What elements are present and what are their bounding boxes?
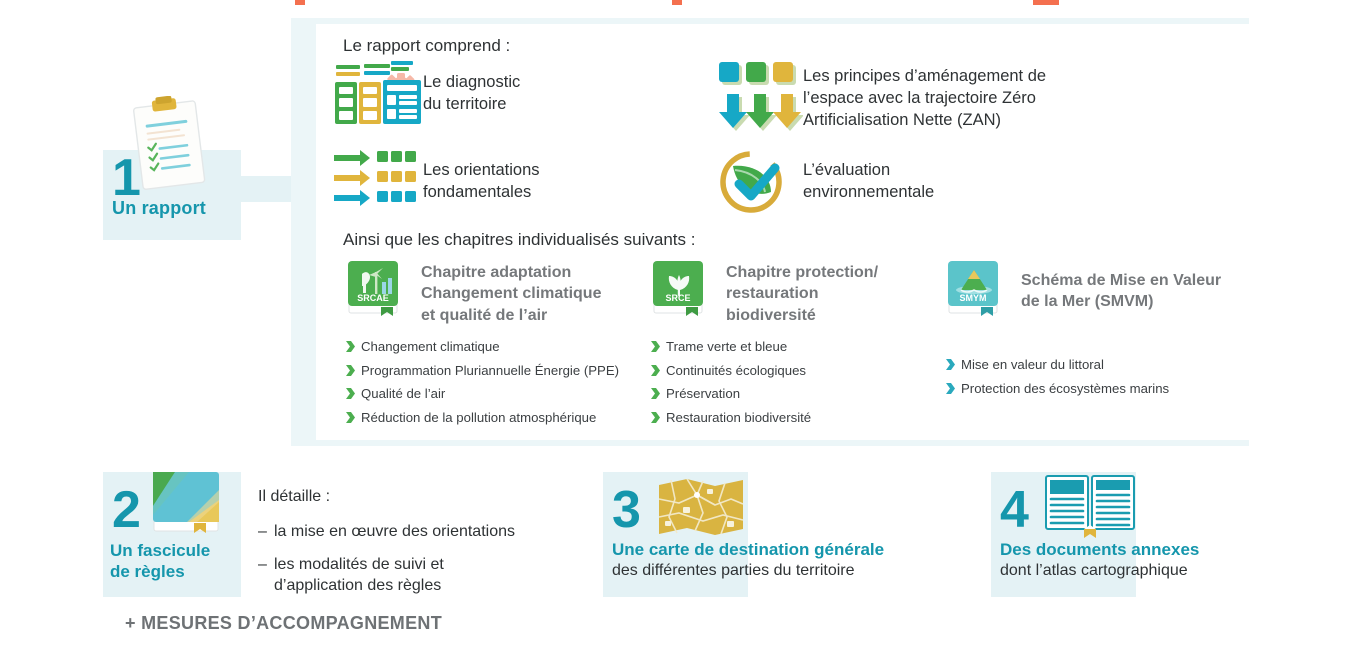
list-item: Préservation <box>650 387 940 400</box>
chapter-srce-title: Chapitre protection/ restauration biodiv… <box>712 258 878 326</box>
step2-label-line2: de règles <box>110 561 240 582</box>
feature-diagnostic-line2: du territoire <box>423 94 520 116</box>
feature-evaluation-line1: L’évaluation <box>803 160 934 182</box>
bullet-label: Mise en valeur du littoral <box>961 358 1104 371</box>
chapter-smvm-title-line2: de la Mer (SMVM) <box>1021 291 1221 312</box>
open-book-icon <box>1043 473 1137 539</box>
feature-diagnostic-text: Le diagnostic du territoire <box>423 60 520 116</box>
step2-item-2-line1: les modalités de suivi et <box>274 555 444 576</box>
chapter-srce-title-line3: biodiversité <box>726 305 878 326</box>
chapter-smvm: SMYM Schéma de Mise en Valeur de la Mer … <box>945 258 1245 405</box>
chevron-right-icon <box>945 358 961 371</box>
feature-evaluation-line2: environnementale <box>803 182 934 204</box>
feature-evaluation: L’évaluation environnementale <box>713 146 1133 216</box>
chapter-srce-title-line2: restauration <box>726 283 878 304</box>
step3-title: Une carte de destination générale <box>612 540 884 560</box>
book-srce-label: SRCE <box>665 293 690 303</box>
step4-number: 4 <box>1000 484 1029 536</box>
feature-zan-text: Les principes d’aménagement de l’espace … <box>803 58 1046 131</box>
down-arrows-icon <box>713 58 803 128</box>
bullet-label: Restauration biodiversité <box>666 411 811 424</box>
step2-item-2: – les modalités de suivi et d’applicatio… <box>258 555 558 597</box>
feature-zan: Les principes d’aménagement de l’espace … <box>713 58 1133 131</box>
bullet-label: Continuités écologiques <box>666 364 806 377</box>
feature-orientations-line1: Les orientations <box>423 160 540 182</box>
bullet-label: Changement climatique <box>361 340 500 353</box>
title-trace-right <box>1033 0 1059 5</box>
chevron-right-icon <box>945 382 961 395</box>
chapter-srcae-title-line1: Chapitre adaptation <box>421 262 601 283</box>
chevron-right-icon <box>650 387 666 400</box>
list-item: Trame verte et bleue <box>650 340 940 353</box>
arrows-blocks-icon <box>333 148 423 218</box>
bullet-label: Préservation <box>666 387 740 400</box>
feature-diagnostic-line1: Le diagnostic <box>423 72 520 94</box>
chapter-srcae: SRCAE Chapitre adaptation Changement cli… <box>345 258 645 435</box>
chapter-smvm-title: Schéma de Mise en Valeur de la Mer (SMVM… <box>1007 258 1221 313</box>
step3-number: 3 <box>612 484 641 536</box>
step2-label: Un fascicule de règles <box>110 540 240 583</box>
chevron-right-icon <box>650 411 666 424</box>
step2-item-2-text: les modalités de suivi et d’application … <box>274 555 444 597</box>
step2-label-line1: Un fascicule <box>110 540 240 561</box>
list-item: Qualité de l’air <box>345 387 645 400</box>
chapter-smvm-bullets: Mise en valeur du littoral Protection de… <box>945 358 1245 395</box>
step2-number: 2 <box>112 484 141 536</box>
step1-number: 1 <box>112 152 141 204</box>
step4-title: Des documents annexes <box>1000 540 1199 560</box>
panel-heading-comprend: Le rapport comprend : <box>343 36 510 56</box>
step1-label: Un rapport <box>112 198 206 219</box>
step2-body: Il détaille : – la mise en œuvre des ori… <box>258 488 558 608</box>
book-srcae-icon: SRCAE <box>345 258 407 320</box>
step2-item-2-line2: d’application des règles <box>274 576 444 597</box>
feature-evaluation-text: L’évaluation environnementale <box>803 146 934 204</box>
feature-orientations-text: Les orientations fondamentales <box>423 148 540 204</box>
chapter-srce: SRCE Chapitre protection/ restauration b… <box>650 258 940 435</box>
feature-zan-line3: Artificialisation Nette (ZAN) <box>803 110 1046 132</box>
chapter-srcae-title-line2: Changement climatique <box>421 283 601 304</box>
step2-item-1: – la mise en œuvre des orientations <box>258 522 558 543</box>
step2-item-1-line1: la mise en œuvre des orientations <box>274 522 515 543</box>
charts-gear-icon <box>333 60 423 130</box>
list-item: Réduction de la pollution atmosphérique <box>345 411 645 424</box>
step4-subtitle: dont l’atlas cartographique <box>1000 562 1188 580</box>
bullet-label: Protection des écosystèmes marins <box>961 382 1169 395</box>
step3-subtitle: des différentes parties du territoire <box>612 562 855 580</box>
bullet-label: Qualité de l’air <box>361 387 445 400</box>
list-item: Continuités écologiques <box>650 364 940 377</box>
chapter-smvm-header: SMYM Schéma de Mise en Valeur de la Mer … <box>945 258 1245 320</box>
dash-marker: – <box>258 555 274 597</box>
dash-marker: – <box>258 522 274 543</box>
feature-zan-line2: l’espace avec la trajectoire Zéro <box>803 88 1046 110</box>
panel-heading-ainsi: Ainsi que les chapitres individualisés s… <box>343 230 695 250</box>
chapter-srcae-header: SRCAE Chapitre adaptation Changement cli… <box>345 258 645 326</box>
feature-orientations-line2: fondamentales <box>423 182 540 204</box>
chevron-right-icon <box>345 364 361 377</box>
chevron-right-icon <box>650 364 666 377</box>
chapter-srce-title-line1: Chapitre protection/ <box>726 262 878 283</box>
step2-lead: Il détaille : <box>258 488 558 506</box>
feature-zan-line1: Les principes d’aménagement de <box>803 66 1046 88</box>
chapter-srce-header: SRCE Chapitre protection/ restauration b… <box>650 258 940 326</box>
bullet-label: Réduction de la pollution atmosphérique <box>361 411 596 424</box>
bullet-label: Trame verte et bleue <box>666 340 787 353</box>
chapter-srcae-title-line3: et qualité de l’air <box>421 305 601 326</box>
chapter-srcae-bullets: Changement climatique Programmation Plur… <box>345 340 645 424</box>
book-smvm-label: SMYM <box>960 293 987 303</box>
book-smvm-icon: SMYM <box>945 258 1007 320</box>
chapter-srcae-title: Chapitre adaptation Changement climatiqu… <box>407 258 601 326</box>
chevron-right-icon <box>345 387 361 400</box>
feature-orientations: Les orientations fondamentales <box>333 148 693 218</box>
feature-diagnostic: Le diagnostic du territoire <box>333 60 693 130</box>
title-trace-left <box>295 0 305 5</box>
chapter-srce-bullets: Trame verte et bleue Continuités écologi… <box>650 340 940 424</box>
footer-mesures: + MESURES D’ACCOMPAGNEMENT <box>125 613 442 634</box>
chapter-smvm-title-line1: Schéma de Mise en Valeur <box>1021 270 1221 291</box>
title-trace-mid <box>672 0 682 5</box>
list-item: Protection des écosystèmes marins <box>945 382 1245 395</box>
list-item: Mise en valeur du littoral <box>945 358 1245 371</box>
shield-leaf-check-icon <box>713 146 803 216</box>
infographic-canvas: 1 Un rapport Le rapport comprend : Ainsi… <box>0 0 1348 664</box>
list-item: Programmation Pluriannuelle Énergie (PPE… <box>345 364 645 377</box>
chevron-right-icon <box>650 340 666 353</box>
book-srce-icon: SRCE <box>650 258 712 320</box>
bullet-label: Programmation Pluriannuelle Énergie (PPE… <box>361 364 619 377</box>
book-srcae-label: SRCAE <box>357 293 389 303</box>
map-icon <box>657 477 745 537</box>
list-item: Changement climatique <box>345 340 645 353</box>
chevron-right-icon <box>345 340 361 353</box>
chevron-right-icon <box>345 411 361 424</box>
book-rules-icon <box>150 470 222 536</box>
list-item: Restauration biodiversité <box>650 411 940 424</box>
